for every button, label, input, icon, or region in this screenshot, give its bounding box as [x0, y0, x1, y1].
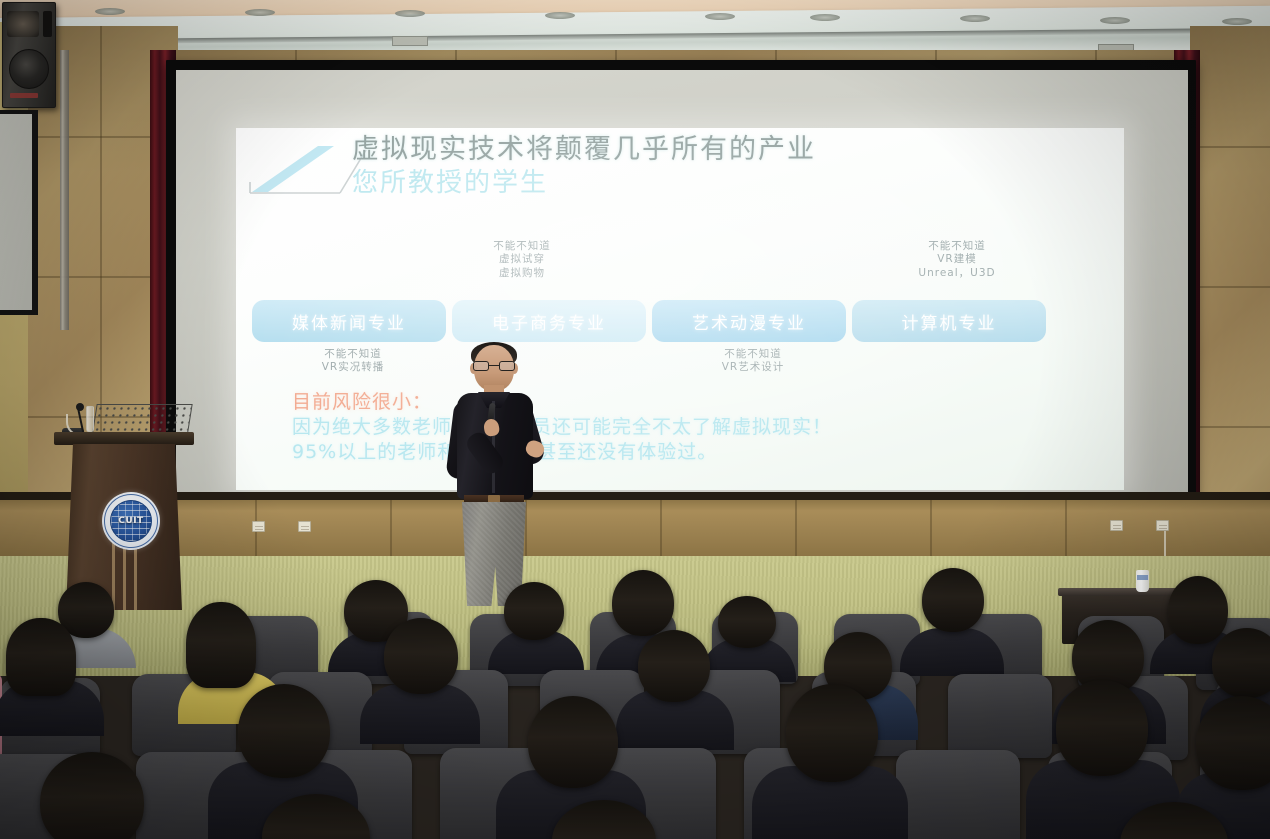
category-row: 不能不知道 虚拟试穿 虚拟购物 不能不知道 VR建模 Unreal，U3D 媒体… — [236, 300, 1124, 346]
downlight-icon — [95, 8, 125, 15]
speaker-port — [43, 11, 52, 37]
slide-content: 虚拟现实技术将颠覆几乎所有的产业 您所教授的学生 不能不知道 虚拟试穿 虚拟购物… — [236, 128, 1124, 490]
category-label: 计算机专业 — [902, 309, 997, 334]
wall-outlet[interactable] — [1156, 520, 1169, 531]
speaker-brand-label — [10, 93, 38, 98]
audience-head — [1056, 680, 1148, 776]
slide-subtitle: 您所教授的学生 — [352, 168, 1112, 199]
downlight-icon — [1222, 18, 1252, 25]
speaker-horn-icon — [7, 11, 39, 37]
category-note-below-3: 不能不知道 VR艺术设计 — [668, 348, 838, 375]
downlight-icon — [960, 15, 990, 22]
side-projection-screen — [0, 114, 32, 310]
water-bottle — [86, 406, 94, 432]
audience-head — [528, 696, 618, 788]
slide-bottom-block: 目前风险很小： 因为绝大多数老师和管理人员还可能完全不太了解虚拟现实！ 95%以… — [292, 390, 1112, 465]
audience-head — [638, 630, 710, 702]
category-box-media-journalism[interactable]: 媒体新闻专业 — [252, 300, 446, 342]
category-label: 媒体新闻专业 — [292, 309, 406, 334]
lectern-top — [54, 432, 194, 445]
ceiling-vent — [392, 36, 428, 46]
risk-line-2: 95%以上的老师和管理人员甚至还没有体验过。 — [292, 440, 1112, 465]
wall-outlet[interactable] — [298, 521, 311, 532]
downlight-icon — [810, 14, 840, 21]
downlight-icon — [395, 10, 425, 17]
seat[interactable] — [948, 674, 1052, 758]
downlight-icon — [245, 9, 275, 16]
audience-head — [1212, 628, 1270, 698]
microphone-head-icon — [76, 403, 84, 411]
category-note-below-1: 不能不知道 VR实况转播 — [268, 348, 438, 375]
audience-head — [384, 618, 458, 694]
projected-slide: 虚拟现实技术将颠覆几乎所有的产业 您所教授的学生 不能不知道 虚拟试穿 虚拟购物… — [236, 128, 1124, 490]
slide-title: 虚拟现实技术将颠覆几乎所有的产业 — [352, 134, 1112, 166]
risk-line-1: 因为绝大多数老师和管理人员还可能完全不太了解虚拟现实！ — [292, 415, 1112, 440]
audience-head — [786, 684, 878, 782]
speaker-woofer-icon — [9, 49, 49, 89]
audience-head — [504, 582, 564, 640]
seat[interactable] — [896, 750, 1020, 839]
audience-head — [922, 568, 984, 632]
category-box-ecommerce[interactable]: 电子商务专业 — [452, 300, 646, 342]
category-box-computer-science[interactable]: 计算机专业 — [852, 300, 1046, 342]
audience-head — [612, 570, 674, 636]
category-box-art-animation[interactable]: 艺术动漫专业 — [652, 300, 846, 342]
audience-head — [40, 752, 144, 839]
category-label: 电子商务专业 — [492, 309, 606, 334]
audience-seating — [0, 556, 1270, 839]
category-note-above-4: 不能不知道 VR建模 Unreal，U3D — [862, 240, 1052, 280]
wall-outlet[interactable] — [1110, 520, 1123, 531]
risk-heading: 目前风险很小： — [292, 390, 1112, 415]
metal-trim-pillar — [60, 50, 69, 330]
audience-head — [186, 602, 256, 688]
wall-outlet[interactable] — [252, 521, 265, 532]
category-label: 艺术动漫专业 — [692, 309, 806, 334]
downlight-icon — [705, 13, 735, 20]
audience-head — [6, 618, 76, 696]
glasses-icon — [473, 361, 515, 371]
wall-wainscot — [0, 500, 1270, 560]
audience-head — [718, 596, 776, 648]
audience-head — [238, 684, 330, 778]
lecture-hall-photo: 虚拟现实技术将颠覆几乎所有的产业 您所教授的学生 不能不知道 虚拟试穿 虚拟购物… — [0, 0, 1270, 839]
logo-text: CUIT — [118, 516, 143, 526]
category-note-above-2: 不能不知道 虚拟试穿 虚拟购物 — [442, 240, 602, 280]
pa-speaker — [2, 2, 56, 108]
downlight-icon — [545, 12, 575, 19]
audience-head longhair — [1168, 576, 1228, 644]
downlight-icon — [1100, 17, 1130, 24]
university-logo: CUIT — [102, 492, 160, 550]
